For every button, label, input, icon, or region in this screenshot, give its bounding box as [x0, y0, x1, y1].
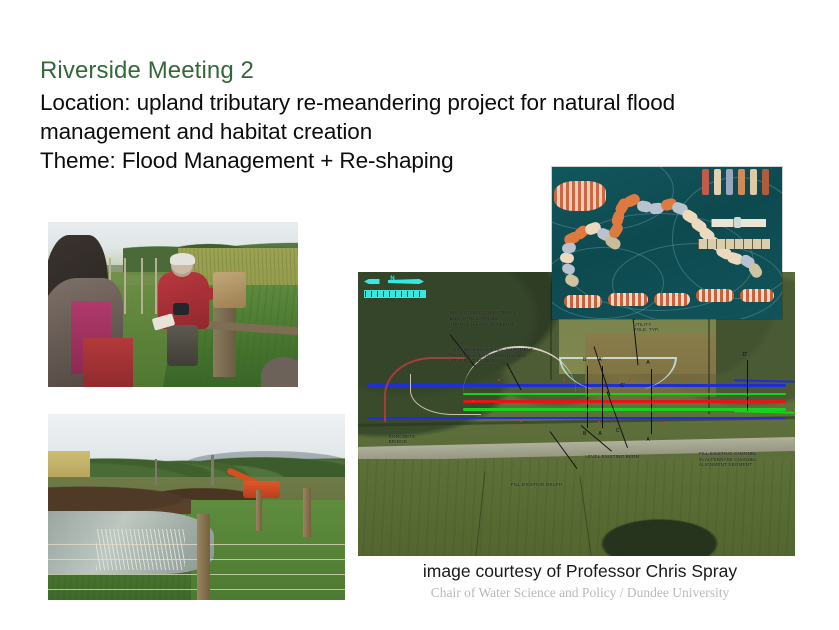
field-visit-photograph — [48, 222, 298, 387]
north-label: N — [390, 276, 394, 282]
photo-soil-core-sample — [213, 272, 246, 308]
scale-ruler-icon — [698, 239, 770, 249]
model-field-strip — [740, 289, 774, 302]
aerial-tree-grove — [594, 516, 725, 556]
photo-fence-post — [197, 514, 210, 600]
aerial-lower-field — [358, 459, 795, 556]
slide-body-line-2: management and habitat creation — [40, 117, 800, 146]
annotation-level-existing-berm: LEVEL EXISTING BERM — [585, 454, 639, 460]
annotation-fill-existing-delph: FILL EXISTING DELPH — [511, 482, 562, 488]
page-title: Riverside Meeting 2 — [40, 56, 800, 86]
model-legend-swatch — [762, 169, 769, 195]
north-arrow-icon: N — [364, 276, 424, 302]
annotation-concrete-bridge: CONCRETE BRIDGE — [389, 434, 416, 445]
photo-foreground-person-c — [261, 357, 299, 387]
photo-reeds — [96, 529, 185, 570]
slide-text-block: Riverside Meeting 2 Location: upland tri… — [40, 56, 800, 175]
photo-person-legs — [167, 325, 198, 366]
model-field-strip — [564, 295, 602, 308]
photo-utility-pole — [155, 459, 157, 485]
model-legend-swatch — [738, 169, 745, 195]
model-legend-swatch — [726, 169, 733, 195]
slide-canvas: Riverside Meeting 2 Location: upland tri… — [0, 0, 839, 630]
excavation-works-photograph — [48, 414, 345, 600]
felt-model-river-map — [552, 167, 782, 319]
scale-bar — [364, 290, 426, 298]
photo-person-speaker — [153, 255, 218, 364]
image-credit-subtitle: Chair of Water Science and Policy / Dund… — [360, 584, 800, 602]
image-credit-block: image courtesy of Professor Chris Spray … — [360, 560, 800, 602]
photo-left-field — [48, 451, 90, 477]
model-field-strip — [608, 293, 648, 306]
photo-fence-post — [303, 488, 311, 536]
model-legend-swatch — [750, 169, 757, 195]
overlay-existing-channel-line — [463, 393, 786, 396]
photo-person-hair — [170, 253, 195, 265]
overlay-centerline — [463, 400, 786, 403]
model-field-strip — [696, 289, 734, 302]
model-habitat-patch — [554, 181, 606, 211]
photo-utility-pole — [211, 455, 213, 485]
north-arrow-icon — [708, 219, 766, 227]
annotation-alternate-channel-alignment: ALTERNATE CHANNEL ALIGNMENT TO REJOIN EX… — [452, 347, 533, 364]
model-legend-swatch — [702, 169, 709, 195]
model-legend-swatch — [714, 169, 721, 195]
image-credit-line: image courtesy of Professor Chris Spray — [360, 560, 800, 582]
slide-body-line-1: Location: upland tributary re-meandering… — [40, 88, 800, 117]
photo-foreground-red-bag — [83, 338, 133, 388]
binoculars-icon — [173, 303, 190, 315]
annotation-realign-existing-stream: REALIGN EXISTING STREAM EXCAVATE CHANNEL… — [450, 310, 517, 327]
model-field-strip — [654, 293, 690, 306]
photo-fence-post — [256, 490, 263, 531]
annotation-fill-existing-channel: FILL EXISTING CHANNEL IN ALTERNATE CHANN… — [699, 451, 757, 468]
